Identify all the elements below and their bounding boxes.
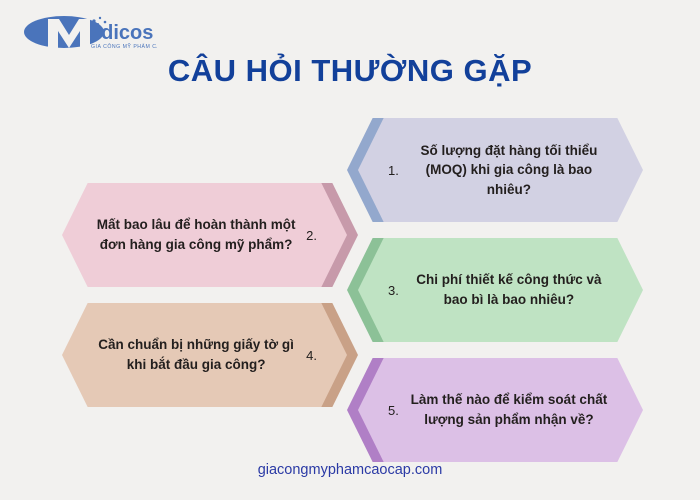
logo-wordmark: edicos xyxy=(90,22,153,44)
footer-website-url[interactable]: giacongmyphamcaocap.com xyxy=(0,462,700,478)
faq-item-5-number: 5. xyxy=(388,403,399,418)
brand-logo: edicos GIA CÔNG MỸ PHẨM CAO CẤP xyxy=(22,12,157,56)
faq-item-1-face: 1. Số lượng đặt hàng tối thiểu (MOQ) khi… xyxy=(358,118,643,222)
faq-item-4-question: Cần chuẩn bị những giấy tờ gì khi bắt đầ… xyxy=(88,335,304,374)
faq-item-2[interactable]: Mất bao lâu để hoàn thành một đơn hàng g… xyxy=(62,183,347,287)
faq-item-1-number: 1. xyxy=(388,163,399,178)
faq-item-4-face: Cần chuẩn bị những giấy tờ gì khi bắt đầ… xyxy=(62,303,347,407)
faq-item-1[interactable]: 1. Số lượng đặt hàng tối thiểu (MOQ) khi… xyxy=(358,118,643,222)
faq-item-4-number: 4. xyxy=(306,348,317,363)
faq-item-1-question: Số lượng đặt hàng tối thiểu (MOQ) khi gi… xyxy=(401,141,617,200)
medicos-logo-icon: edicos GIA CÔNG MỸ PHẨM CAO CẤP xyxy=(22,12,157,56)
faq-item-2-question: Mất bao lâu để hoàn thành một đơn hàng g… xyxy=(88,215,304,254)
faq-item-5-question: Làm thế nào để kiểm soát chất lượng sản … xyxy=(401,390,617,429)
faq-item-5-face: 5. Làm thế nào để kiểm soát chất lượng s… xyxy=(358,358,643,462)
faq-item-3-question: Chi phí thiết kế công thức và bao bì là … xyxy=(401,270,617,309)
faq-item-3-number: 3. xyxy=(388,283,399,298)
faq-item-4[interactable]: Cần chuẩn bị những giấy tờ gì khi bắt đầ… xyxy=(62,303,347,407)
faq-item-3[interactable]: 3. Chi phí thiết kế công thức và bao bì … xyxy=(358,238,643,342)
faq-item-2-number: 2. xyxy=(306,228,317,243)
logo-tagline: GIA CÔNG MỸ PHẨM CAO CẤP xyxy=(91,43,157,50)
page-title: CÂU HỎI THƯỜNG GẶP xyxy=(0,53,700,89)
faq-item-5[interactable]: 5. Làm thế nào để kiểm soát chất lượng s… xyxy=(358,358,643,462)
faq-item-2-face: Mất bao lâu để hoàn thành một đơn hàng g… xyxy=(62,183,347,287)
faq-item-3-face: 3. Chi phí thiết kế công thức và bao bì … xyxy=(358,238,643,342)
